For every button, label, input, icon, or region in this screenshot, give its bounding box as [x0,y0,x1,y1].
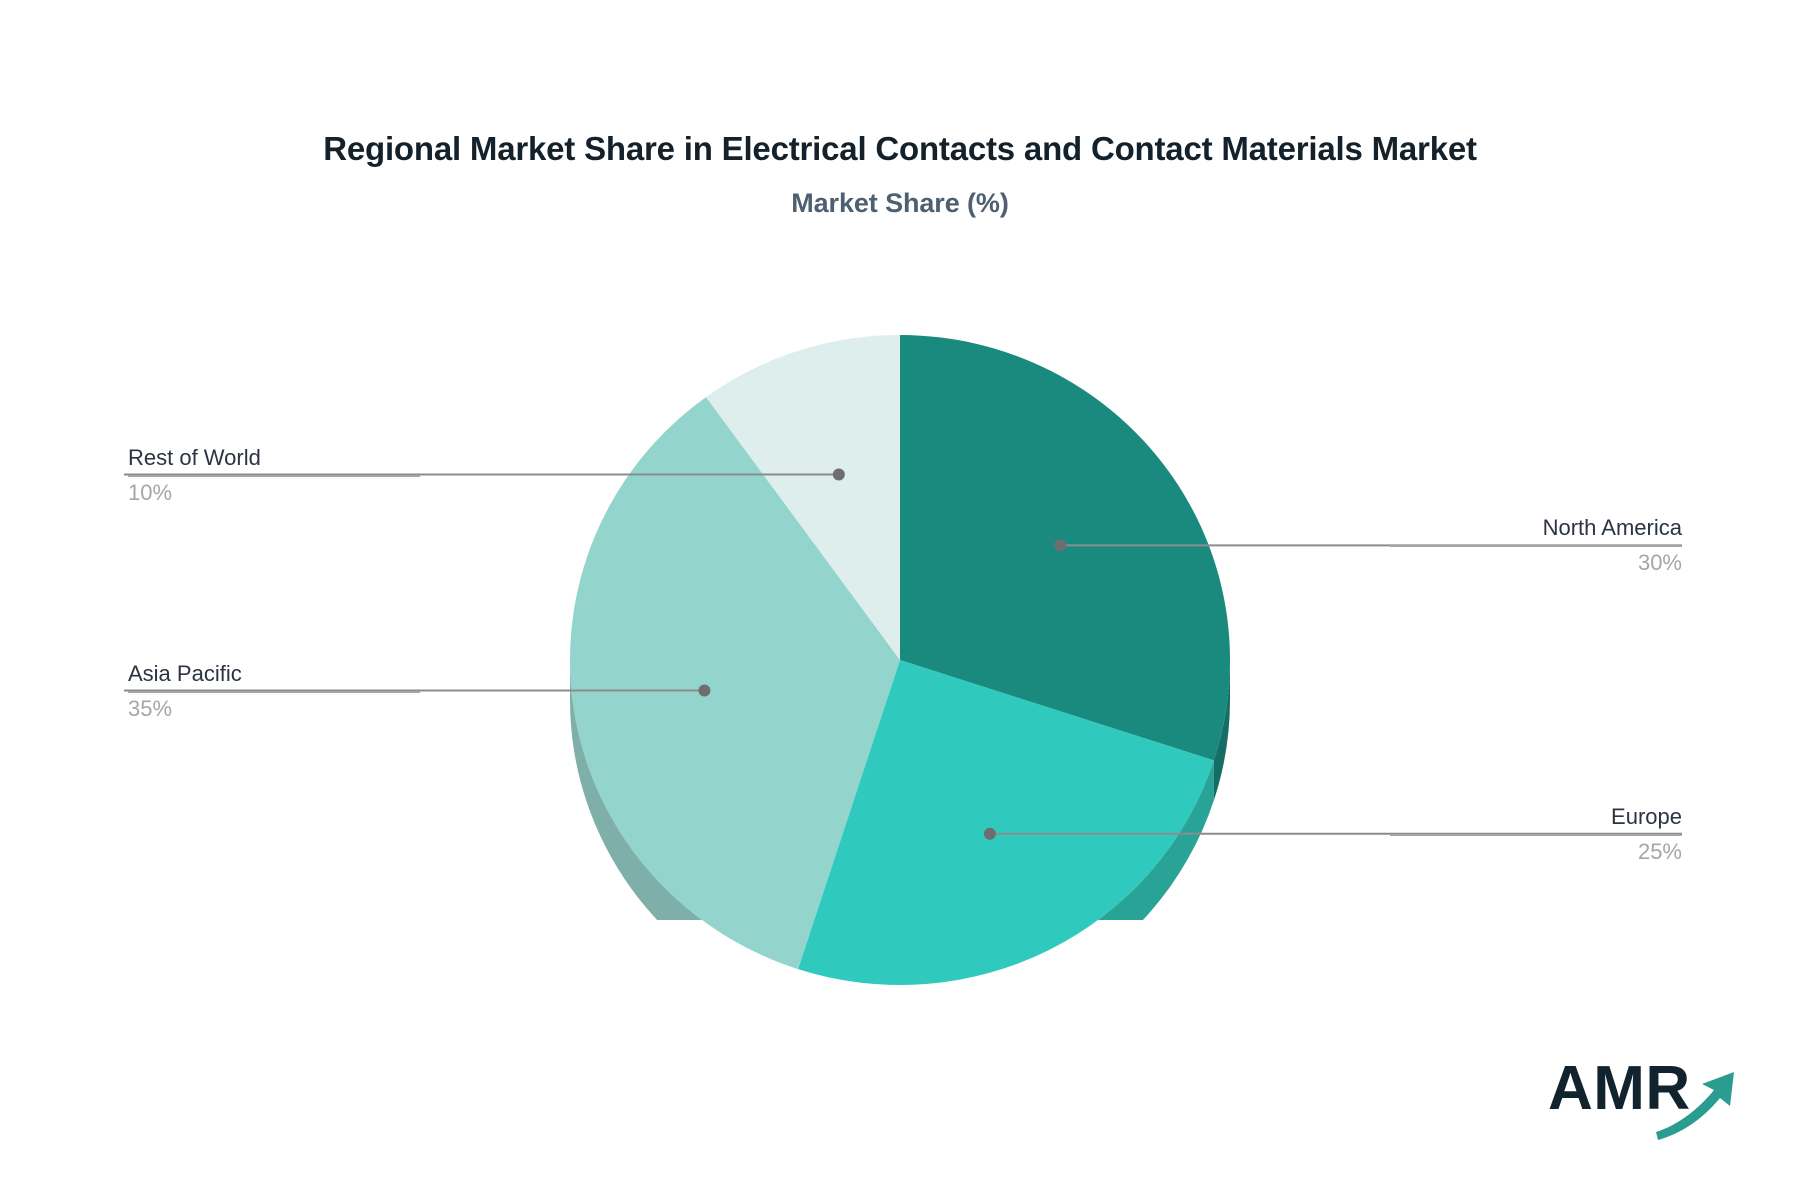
callout-north-america[interactable]: North America 30% [1390,513,1682,579]
leader-dot-asia-pacific [698,685,710,697]
callout-value-rest-of-world: 10% [128,477,420,509]
callout-asia-pacific[interactable]: Asia Pacific 35% [128,659,420,725]
callout-value-asia-pacific: 35% [128,693,420,725]
callout-value-north-america: 30% [1390,547,1682,579]
callout-value-europe: 25% [1390,836,1682,868]
amr-logo[interactable]: AMR [1548,1048,1748,1144]
callout-label-north-america: North America [1390,513,1682,543]
callout-label-europe: Europe [1390,802,1682,832]
pie-top-face [570,335,1230,985]
leader-dot-north-america [1054,539,1066,551]
callout-europe[interactable]: Europe 25% [1390,802,1682,868]
chart-canvas: Regional Market Share in Electrical Cont… [0,0,1800,1196]
pie-chart [0,0,1800,1196]
callout-rest-of-world[interactable]: Rest of World 10% [128,443,420,509]
callout-label-rest-of-world: Rest of World [128,443,420,473]
leader-dot-rest-of-world [833,469,845,481]
callout-label-asia-pacific: Asia Pacific [128,659,420,689]
leader-dot-europe [984,828,996,840]
trending-up-arrow-icon [1548,1048,1748,1144]
